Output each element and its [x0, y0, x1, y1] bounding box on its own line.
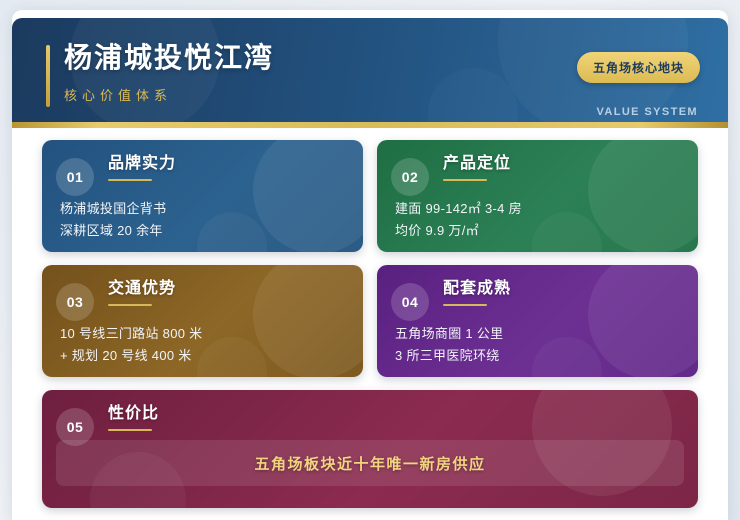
card-detail-line: 深耕区域 20 余年: [60, 220, 345, 242]
card-header: 产品定位: [443, 154, 680, 181]
header-title-block: 杨浦城投悦江湾 核心价值体系: [46, 40, 274, 104]
card-number-badge: 02: [391, 158, 429, 196]
card-detail-line: 五角场商圈 1 公里: [395, 323, 680, 345]
card-header: 交通优势: [108, 279, 345, 306]
value-cards-grid: 01 品牌实力 杨浦城投国企背书 深耕区域 20 余年 02 产品: [12, 140, 728, 520]
card-detail-list: 杨浦城投国企背书 深耕区域 20 余年: [60, 198, 345, 242]
value-system-label: VALUE SYSTEM: [596, 106, 698, 118]
highlight-text: 五角场板块近十年唯一新房供应: [254, 453, 485, 474]
card-detail-list: 10 号线三门路站 800 米 + 规划 20 号线 400 米: [60, 323, 345, 367]
title-underline: [108, 304, 152, 306]
card-title: 产品定位: [443, 154, 680, 174]
title-underline: [108, 429, 152, 431]
value-card-01[interactable]: 01 品牌实力 杨浦城投国企背书 深耕区域 20 余年: [42, 140, 363, 252]
decorative-circle-icon: [428, 68, 518, 128]
title-underline: [108, 179, 152, 181]
card-header: 配套成熟: [443, 279, 680, 306]
card-title: 交通优势: [108, 279, 345, 299]
page-title: 杨浦城投悦江湾: [64, 40, 274, 76]
card-row-3: 05 性价比 五角场板块近十年唯一新房供应: [12, 390, 728, 508]
card-number-badge: 01: [56, 158, 94, 196]
card-header: 性价比: [108, 404, 680, 431]
card-detail-list: 五角场商圈 1 公里 3 所三甲医院环绕: [395, 323, 680, 367]
highlight-banner: 五角场板块近十年唯一新房供应: [56, 440, 684, 486]
page-root: 杨浦城投悦江湾 核心价值体系 五角场核心地块 VALUE SYSTEM 01 品…: [0, 0, 740, 520]
value-card-02[interactable]: 02 产品定位 建面 99-142㎡ 3-4 房 均价 9.9 万/㎡: [377, 140, 698, 252]
value-card-03[interactable]: 03 交通优势 10 号线三门路站 800 米 + 规划 20 号线 400 米: [42, 265, 363, 377]
card-detail-line: + 规划 20 号线 400 米: [60, 345, 345, 367]
card-title: 配套成熟: [443, 279, 680, 299]
content-panel: 杨浦城投悦江湾 核心价值体系 五角场核心地块 VALUE SYSTEM 01 品…: [12, 10, 728, 520]
card-number-badge: 03: [56, 283, 94, 321]
card-detail-line: 建面 99-142㎡ 3-4 房: [395, 198, 680, 220]
title-underline: [443, 179, 487, 181]
value-card-04[interactable]: 04 配套成熟 五角场商圈 1 公里 3 所三甲医院环绕: [377, 265, 698, 377]
page-header: 杨浦城投悦江湾 核心价值体系 五角场核心地块 VALUE SYSTEM: [12, 18, 728, 128]
card-detail-line: 杨浦城投国企背书: [60, 198, 345, 220]
card-row-2: 03 交通优势 10 号线三门路站 800 米 + 规划 20 号线 400 米…: [12, 265, 728, 377]
card-row-1: 01 品牌实力 杨浦城投国企背书 深耕区域 20 余年 02 产品: [12, 140, 728, 252]
page-subtitle: 核心价值体系: [64, 85, 274, 104]
status-badge[interactable]: 五角场核心地块: [577, 52, 700, 83]
card-detail-list: 建面 99-142㎡ 3-4 房 均价 9.9 万/㎡: [395, 198, 680, 242]
card-detail-line: 10 号线三门路站 800 米: [60, 323, 345, 345]
title-underline: [443, 304, 487, 306]
card-title: 品牌实力: [108, 154, 345, 174]
title-accent-bar: [46, 45, 50, 107]
card-detail-line: 均价 9.9 万/㎡: [395, 220, 680, 242]
card-number-badge: 04: [391, 283, 429, 321]
card-title: 性价比: [108, 404, 680, 424]
card-header: 品牌实力: [108, 154, 345, 181]
value-card-05[interactable]: 05 性价比 五角场板块近十年唯一新房供应: [42, 390, 698, 508]
card-detail-line: 3 所三甲医院环绕: [395, 345, 680, 367]
